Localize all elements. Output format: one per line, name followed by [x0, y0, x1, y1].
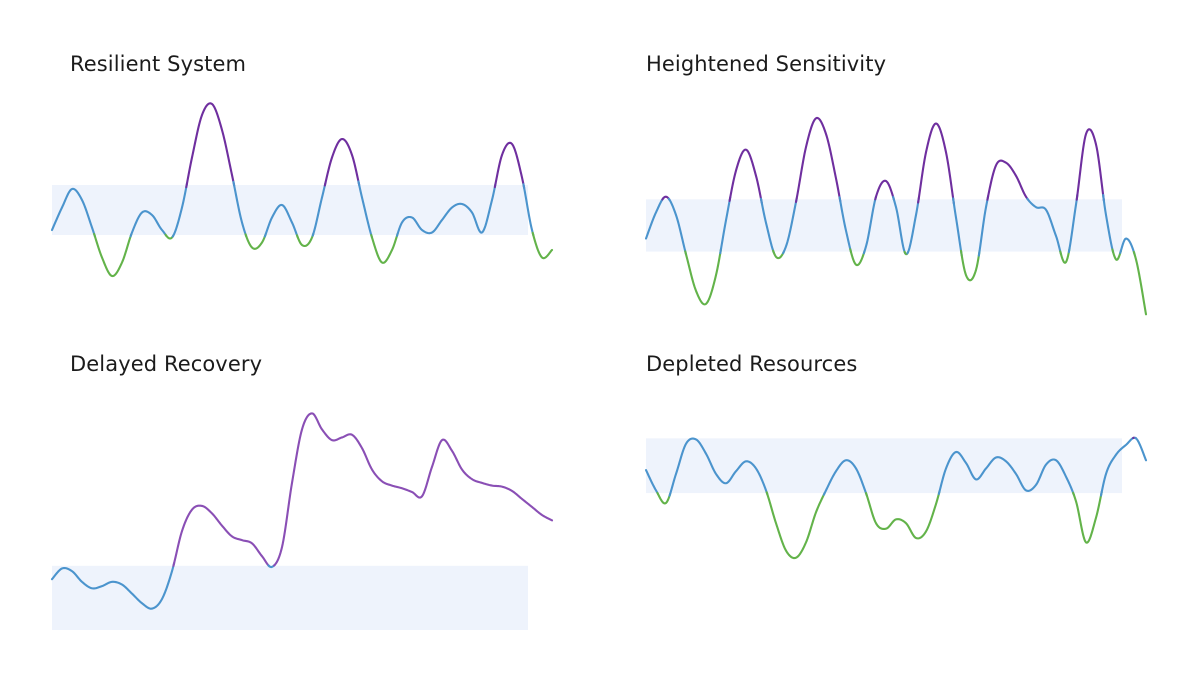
series-segment-above [325, 139, 359, 185]
series-segment-above [987, 161, 1028, 200]
panel-title: Delayed Recovery [70, 352, 262, 376]
series-segment-above [495, 143, 524, 188]
figure-canvas: Resilient System Heightened Sensitivity … [0, 0, 1200, 675]
plot-heightened-sensitivity [646, 100, 1146, 330]
series-segment-below [767, 492, 825, 558]
series-segment-in [1120, 239, 1134, 255]
series-segment-below [866, 491, 940, 538]
panel-resilient-system: Resilient System [0, 0, 600, 338]
series-segment-below [297, 233, 313, 246]
series-segment-above [186, 103, 234, 187]
series-segment-below [371, 234, 397, 263]
normal-range-band [646, 199, 1122, 251]
series-segment-above [173, 506, 269, 566]
normal-range-band [52, 566, 528, 630]
series-segment-below [1073, 492, 1102, 543]
series-segment-above [1077, 129, 1104, 200]
normal-range-band [646, 438, 1122, 493]
series-segment-in [1135, 438, 1146, 460]
panel-title: Depleted Resources [646, 352, 857, 376]
series-segment-above [730, 150, 762, 203]
series-segment-below [657, 493, 670, 503]
series-segment-below [773, 251, 784, 258]
plot-delayed-recovery [52, 400, 552, 630]
plot-depleted-resources [646, 400, 1146, 630]
series-segment-above [796, 118, 840, 202]
series-segment-below [533, 233, 552, 258]
series-segment-below [685, 249, 721, 304]
series-segment-below [961, 251, 980, 281]
series-segment-above [274, 413, 552, 565]
series-segment-below [850, 249, 864, 265]
panel-heightened-sensitivity: Heightened Sensitivity [600, 0, 1200, 338]
panel-delayed-recovery: Delayed Recovery [0, 338, 600, 675]
panel-depleted-resources: Depleted Resources [600, 338, 1200, 675]
series-segment-above [918, 124, 954, 204]
series-segment-below [246, 234, 266, 249]
series-segment-below [94, 234, 131, 276]
panel-title: Heightened Sensitivity [646, 52, 886, 76]
panel-title: Resilient System [70, 52, 246, 76]
series-segment-above [875, 181, 894, 200]
series-segment-below [1134, 252, 1146, 314]
normal-range-band [52, 185, 528, 235]
plot-resilient-system [52, 100, 552, 330]
